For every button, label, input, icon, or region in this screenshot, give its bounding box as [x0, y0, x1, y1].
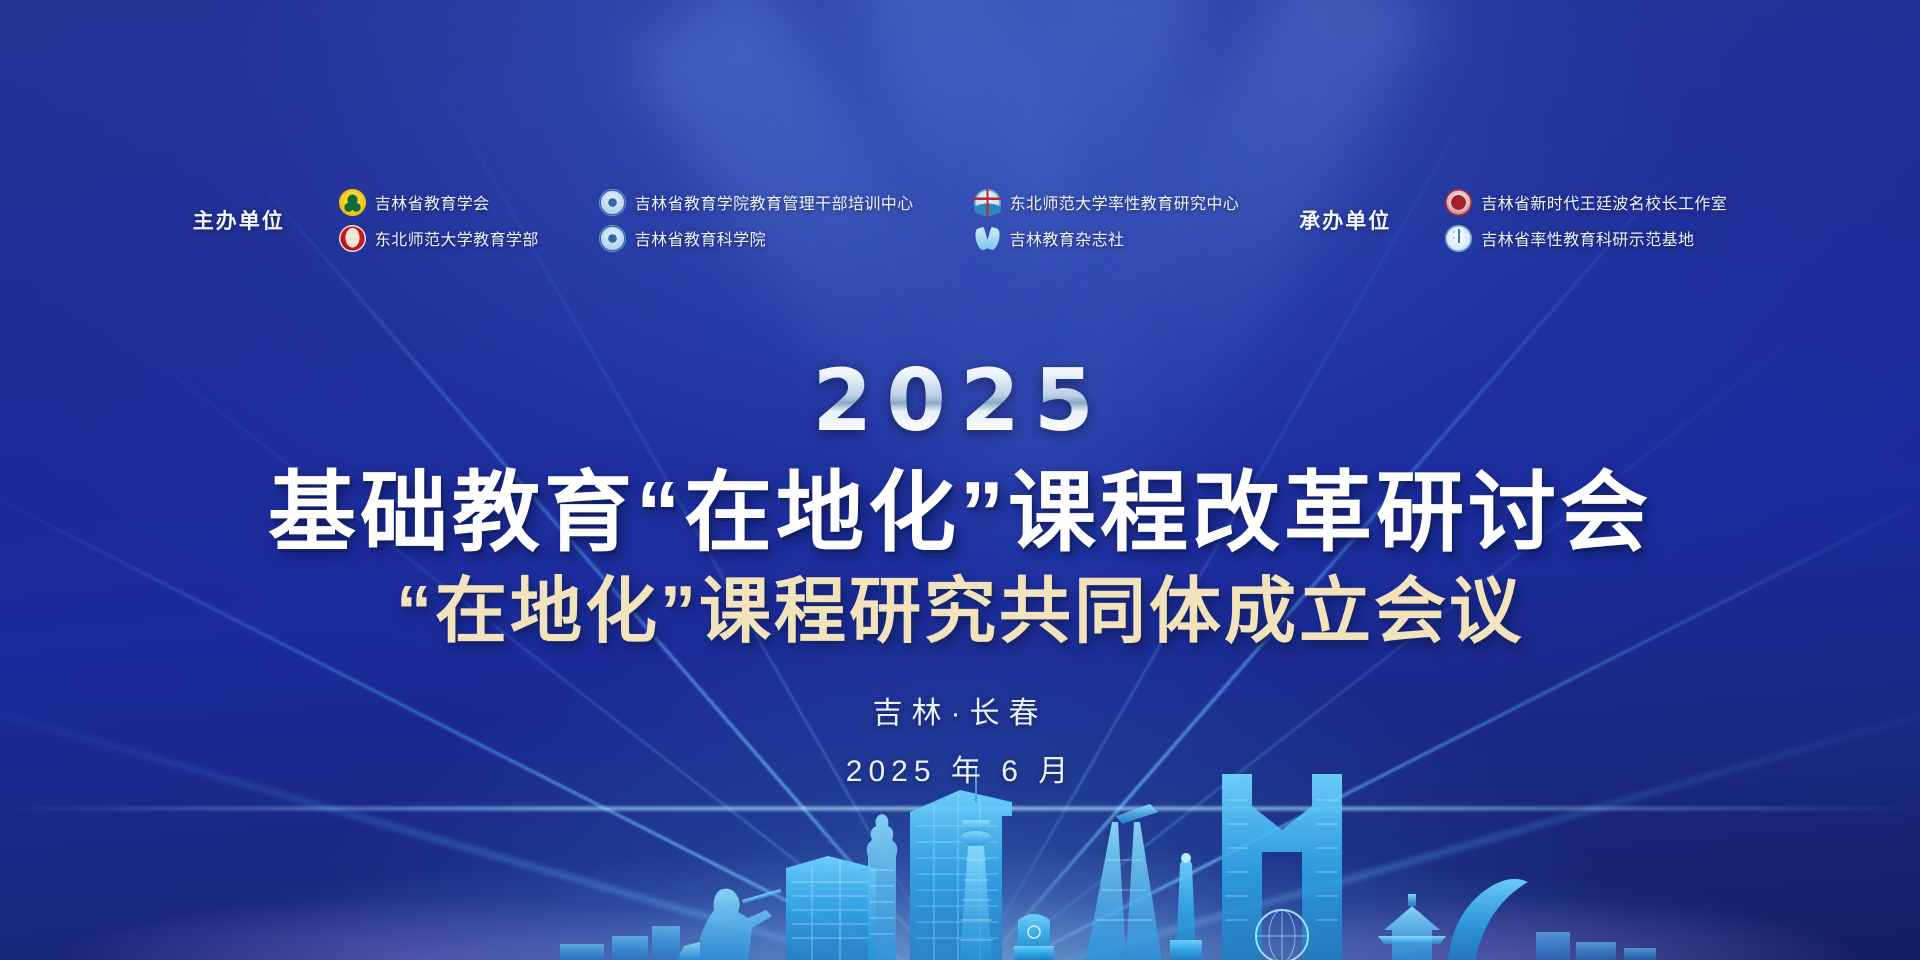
skyline-wing-sculpture [1448, 879, 1528, 960]
skyline-dome-small [1014, 914, 1054, 960]
skyline-pavilion-right [1378, 894, 1446, 960]
page-subtitle: “在地化”课程研究共同体成立会议 [0, 573, 1920, 652]
event-location: 吉林·长春 [0, 688, 1920, 732]
skyline-monument [867, 814, 898, 960]
skyline-obelisk [1170, 853, 1202, 960]
event-date: 2025 年 6 月 [0, 746, 1920, 790]
skyline-spire-twin [1086, 804, 1162, 960]
skyline-tv-tower [960, 766, 993, 960]
year-title: 2025 [0, 358, 1920, 444]
skyline-statue-left [676, 889, 782, 960]
headline-block: 2025 基础教育“在地化”课程改革研讨会 “在地化”课程研究共同体成立会议 吉… [0, 0, 1920, 790]
skyline-distant-left [560, 926, 680, 960]
conference-banner: 主办单位 吉林省教育学会 东北师范大学教育学部 吉林省教育学院教育管理干部培训中… [0, 0, 1920, 960]
horizon-line [0, 807, 1920, 810]
skyline-block-1 [786, 856, 876, 960]
skyline-distant-right [1536, 932, 1656, 960]
page-title: 基础教育“在地化”课程改革研讨会 [0, 466, 1920, 559]
skyline-gate-tower [1222, 774, 1342, 960]
skyline-tower-glass [910, 790, 1012, 960]
